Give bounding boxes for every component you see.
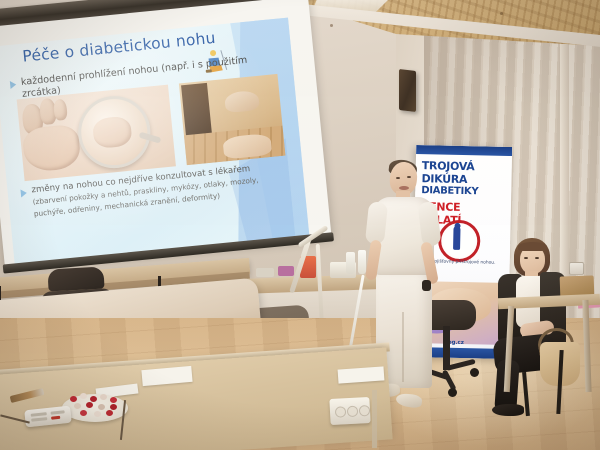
projector-screen: Péče o diabetickou nohu každodenní prohl… [0,0,338,276]
power-strip [329,397,370,425]
ceiling-knot [500,12,503,15]
fringe [518,242,547,251]
logo-figure-head [454,223,460,229]
triangle-bullet-icon [10,80,17,89]
candy [80,393,87,399]
reflected-feet [224,90,260,113]
chair-backrest [47,267,104,292]
mouth [399,186,409,190]
candy [90,396,97,402]
eye [396,177,400,179]
candy [100,394,107,400]
eye [407,176,411,178]
slide-photo-feet-floor-mirror [179,74,286,165]
trouser-seam [402,312,404,382]
screen-surface: Péče o diabetickou nohu každodenní prohl… [0,0,332,268]
table-leg [372,390,377,448]
candy [94,411,101,417]
candy [110,397,117,403]
projected-slide: Péče o diabetickou nohu každodenní prohl… [0,18,310,268]
eye [524,257,528,259]
slide-photo-foot-mirror [17,85,176,181]
tray [256,268,274,277]
office-chair-post [443,326,450,370]
eye [535,257,539,259]
office-chair-wheel [448,388,457,397]
candy [74,403,81,409]
candy [110,404,117,410]
doorframe [181,83,212,139]
shoe-right [395,392,423,408]
ceiling-knot [330,24,333,27]
candy [106,410,113,416]
pink-item [278,266,294,276]
wall-speaker [399,69,416,112]
shoe [492,404,524,416]
bottle [358,250,366,274]
hand-holding-object [422,280,431,291]
triangle-bullet-icon [20,189,27,198]
bottle [346,252,355,274]
logo-figure-body [453,226,461,250]
banner-top-bar [416,145,512,156]
office-chair-wheel [470,368,479,377]
candy [86,402,93,408]
photo-scene: Péče o diabetickou nohu každodenní prohl… [0,0,600,450]
candy [70,396,77,402]
candy [98,404,105,410]
candy [80,410,87,416]
